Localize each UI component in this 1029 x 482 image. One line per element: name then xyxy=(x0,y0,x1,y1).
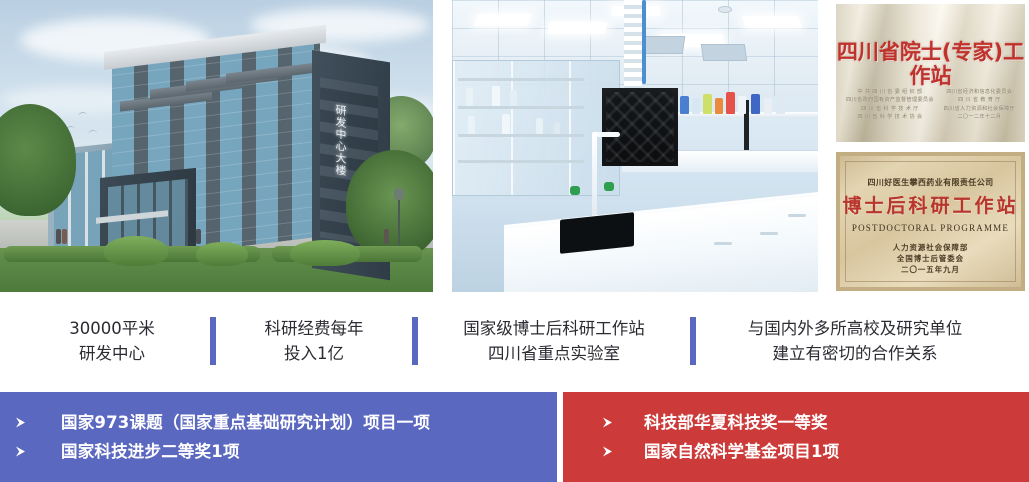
shelf xyxy=(458,78,584,81)
ceiling-vent xyxy=(701,44,747,61)
bird xyxy=(78,111,87,116)
gas-valve-knob xyxy=(570,186,580,195)
building-photo: 研发中心大楼 xyxy=(0,0,433,292)
building-sign-text: 研发中心大楼 xyxy=(329,103,347,178)
stat-item-area: 30000平米 研发中心 xyxy=(14,316,210,366)
cabinet-handle xyxy=(788,214,806,217)
lab-shelving-unit xyxy=(458,78,584,162)
awards-banner-row: 国家973课题（国家重点基础研究计划）项目一项 国家科技进步二等奖1项 xyxy=(0,392,1029,482)
reagent-bottle xyxy=(510,90,517,106)
reagent-bottle xyxy=(482,120,488,134)
shelf xyxy=(458,160,584,163)
ceiling-light xyxy=(474,14,532,26)
pedestrian xyxy=(56,229,61,244)
reagent-bottle xyxy=(692,98,700,114)
award-text: 国家自然科学基金项目1项 xyxy=(644,442,839,462)
awards-banner-blue: 国家973课题（国家重点基础研究计划）项目一项 国家科技进步二等奖1项 xyxy=(0,392,557,482)
award-item: 国家科技进步二等奖1项 xyxy=(0,442,557,462)
stats-row: 30000平米 研发中心 科研经费每年 投入1亿 国家级博士后科研工作站 四川省… xyxy=(0,296,1029,386)
pedestrian xyxy=(196,229,201,244)
reagent-bottle xyxy=(738,96,746,114)
reagent-bottle xyxy=(554,122,560,134)
award-item: 科技部华夏科技奖一等奖 xyxy=(563,413,1029,433)
plaque-issuers: 人力资源社会保障部 全国博士后管委会 二〇一五年九月 xyxy=(840,242,1021,275)
reagent-bottle xyxy=(492,86,500,106)
reagent-bottle xyxy=(466,88,473,106)
reagent-bottle xyxy=(680,96,689,114)
reagent-bottle xyxy=(751,94,760,114)
arrow-right-icon xyxy=(601,416,614,429)
ceiling-light xyxy=(547,22,608,34)
award-item: 国家自然科学基金项目1项 xyxy=(563,442,1029,462)
reagent-bottle xyxy=(764,98,772,114)
arrow-right-icon xyxy=(14,445,27,458)
reagent-bottle xyxy=(502,114,510,134)
arrow-right-icon xyxy=(601,445,614,458)
reagent-bottle xyxy=(536,118,543,134)
reagent-bottle xyxy=(726,92,735,114)
gas-valve-knob xyxy=(604,182,614,191)
utility-pipe xyxy=(642,0,646,84)
reagent-bottle xyxy=(715,98,723,114)
award-text: 国家科技进步二等奖1项 xyxy=(61,442,240,462)
fume-hood xyxy=(602,88,678,166)
stat-item-workstation: 国家级博士后科研工作站 四川省重点实验室 xyxy=(418,316,690,366)
arrow-right-icon xyxy=(14,416,27,429)
shelf xyxy=(458,106,584,109)
shrub xyxy=(104,236,168,266)
reagent-bottle xyxy=(478,92,484,106)
smoke-detector xyxy=(718,6,732,13)
plaque-company-name: 四川好医生攀西药业有限责任公司 xyxy=(840,178,1021,188)
street-lamp xyxy=(398,196,400,248)
reagent-bottle xyxy=(776,92,785,114)
plaque-title-english: POSTDOCTORAL PROGRAMME xyxy=(840,222,1021,234)
stat-item-funding: 科研经费每年 投入1亿 xyxy=(216,316,412,366)
photo-row: 研发中心大楼 xyxy=(0,0,1029,292)
shrub xyxy=(196,242,248,266)
plaque-issuers-left: 中 共 四 川 省 委 组 织 部 四川省政府国有资产监督管理委员会 四 川 省… xyxy=(846,88,934,122)
bird xyxy=(88,129,97,134)
pedestrian xyxy=(62,229,67,244)
pedestrian xyxy=(384,229,389,244)
awards-banner-red: 科技部华夏科技奖一等奖 国家自然科学基金项目1项 xyxy=(563,392,1029,482)
plaque-title: 四川省院士(专家)工作站 xyxy=(836,40,1025,88)
plaque-issuers-right: 四川省经济和信息化委员会 四 川 省 教 育 厅 四川省人力资源和社会保障厅 二… xyxy=(944,88,1015,122)
award-text: 科技部华夏科技奖一等奖 xyxy=(644,413,828,433)
cabinet-handle xyxy=(714,242,732,245)
tree xyxy=(346,150,433,258)
ceiling-light xyxy=(742,16,801,28)
lab-faucet xyxy=(592,132,597,228)
plaque-academician-workstation: 四川省院士(专家)工作站 中 共 四 川 省 委 组 织 部 四川省政府国有资产… xyxy=(836,4,1025,142)
reagent-bottle xyxy=(468,116,475,134)
shrub xyxy=(290,240,360,266)
cabinet-handle xyxy=(760,232,778,235)
plaque-postdoctoral-workstation: 四川好医生攀西药业有限责任公司 博士后科研工作站 POSTDOCTORAL PR… xyxy=(836,152,1025,291)
stat-item-cooperation: 与国内外多所高校及研究单位 建立有密切的合作关系 xyxy=(696,316,1014,366)
award-item: 国家973课题（国家重点基础研究计划）项目一项 xyxy=(0,413,557,433)
plaque-issuers: 中 共 四 川 省 委 组 织 部 四川省政府国有资产监督管理委员会 四 川 省… xyxy=(846,88,1015,122)
laboratory-photo xyxy=(452,0,818,292)
shelf xyxy=(458,134,584,137)
page-root: 研发中心大楼 xyxy=(0,0,1029,482)
reagent-bottle xyxy=(703,94,712,114)
plaque-title: 博士后科研工作站 xyxy=(840,194,1021,218)
exhaust-duct xyxy=(624,0,642,90)
tree xyxy=(0,104,76,216)
award-text: 国家973课题（国家重点基础研究计划）项目一项 xyxy=(61,413,430,433)
